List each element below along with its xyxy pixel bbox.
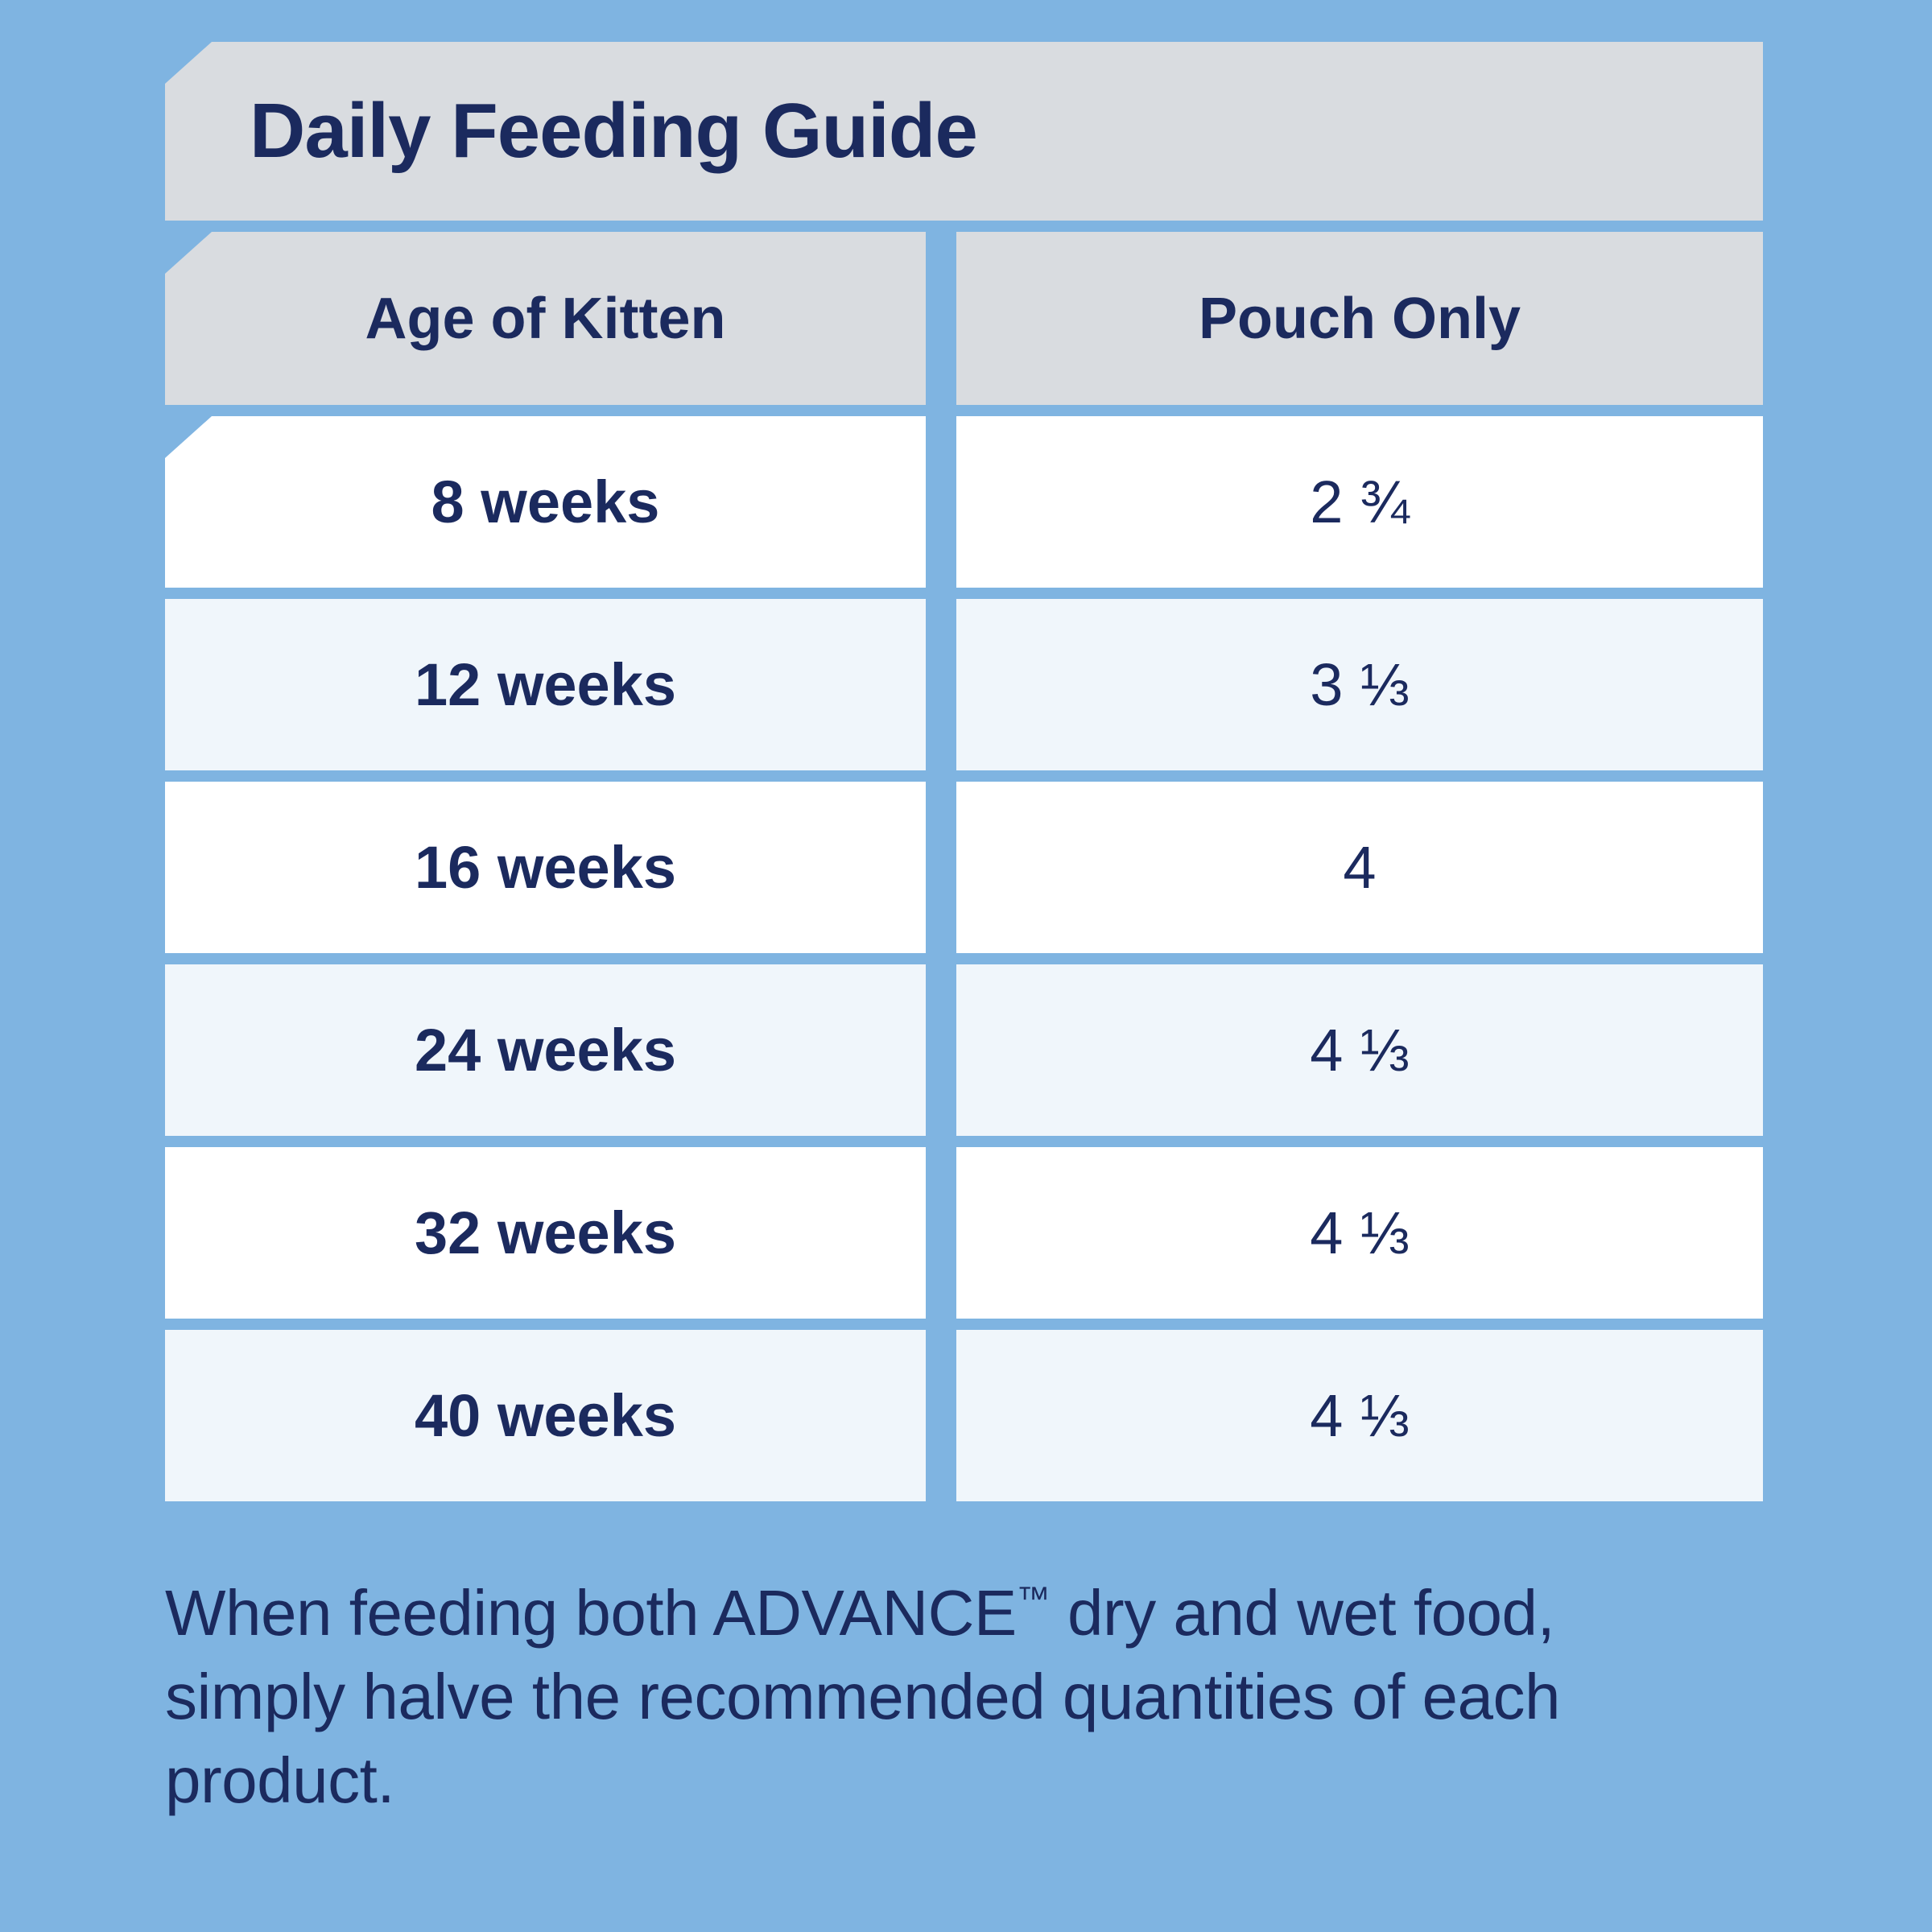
table-header-row: Age of Kitten Pouch Only: [165, 232, 1763, 405]
column-divider: [926, 599, 956, 770]
cell-age: 16 weeks: [165, 782, 926, 953]
cell-pouch: 3 ⅓: [956, 599, 1763, 770]
cell-age: 40 weeks: [165, 1330, 926, 1501]
table-row: 40 weeks 4 ⅓: [165, 1330, 1763, 1501]
table-row: 16 weeks 4: [165, 782, 1763, 953]
feeding-guide-table: Age of Kitten Pouch Only 8 weeks 2 ¾ 12 …: [165, 232, 1763, 1501]
cell-pouch: 4 ⅓: [956, 964, 1763, 1136]
page-title: Daily Feeding Guide: [250, 93, 977, 170]
column-divider: [926, 232, 956, 405]
title-band: Daily Feeding Guide: [165, 42, 1763, 221]
trademark-symbol: ™: [1017, 1579, 1051, 1617]
cell-age: 32 weeks: [165, 1147, 926, 1319]
table-row: 32 weeks 4 ⅓: [165, 1147, 1763, 1319]
cell-pouch: 4: [956, 782, 1763, 953]
cell-age: 24 weeks: [165, 964, 926, 1136]
cell-age: 8 weeks: [165, 416, 926, 588]
column-divider: [926, 782, 956, 953]
table-row: 12 weeks 3 ⅓: [165, 599, 1763, 770]
column-header-age-of-kitten: Age of Kitten: [165, 232, 926, 405]
column-divider: [926, 1147, 956, 1319]
feeding-guide-panel: Daily Feeding Guide Age of Kitten Pouch …: [0, 0, 1932, 1932]
cell-age: 12 weeks: [165, 599, 926, 770]
footnote-text: When feeding both ADVANCE™ dry and wet f…: [165, 1571, 1743, 1823]
column-header-pouch-only: Pouch Only: [956, 232, 1763, 405]
cell-pouch: 4 ⅓: [956, 1330, 1763, 1501]
table-row: 8 weeks 2 ¾: [165, 416, 1763, 588]
column-divider: [926, 416, 956, 588]
column-divider: [926, 1330, 956, 1501]
table-row: 24 weeks 4 ⅓: [165, 964, 1763, 1136]
cell-pouch: 2 ¾: [956, 416, 1763, 588]
column-divider: [926, 964, 956, 1136]
cell-pouch: 4 ⅓: [956, 1147, 1763, 1319]
footnote-part-1: When feeding both ADVANCE: [165, 1577, 1017, 1649]
